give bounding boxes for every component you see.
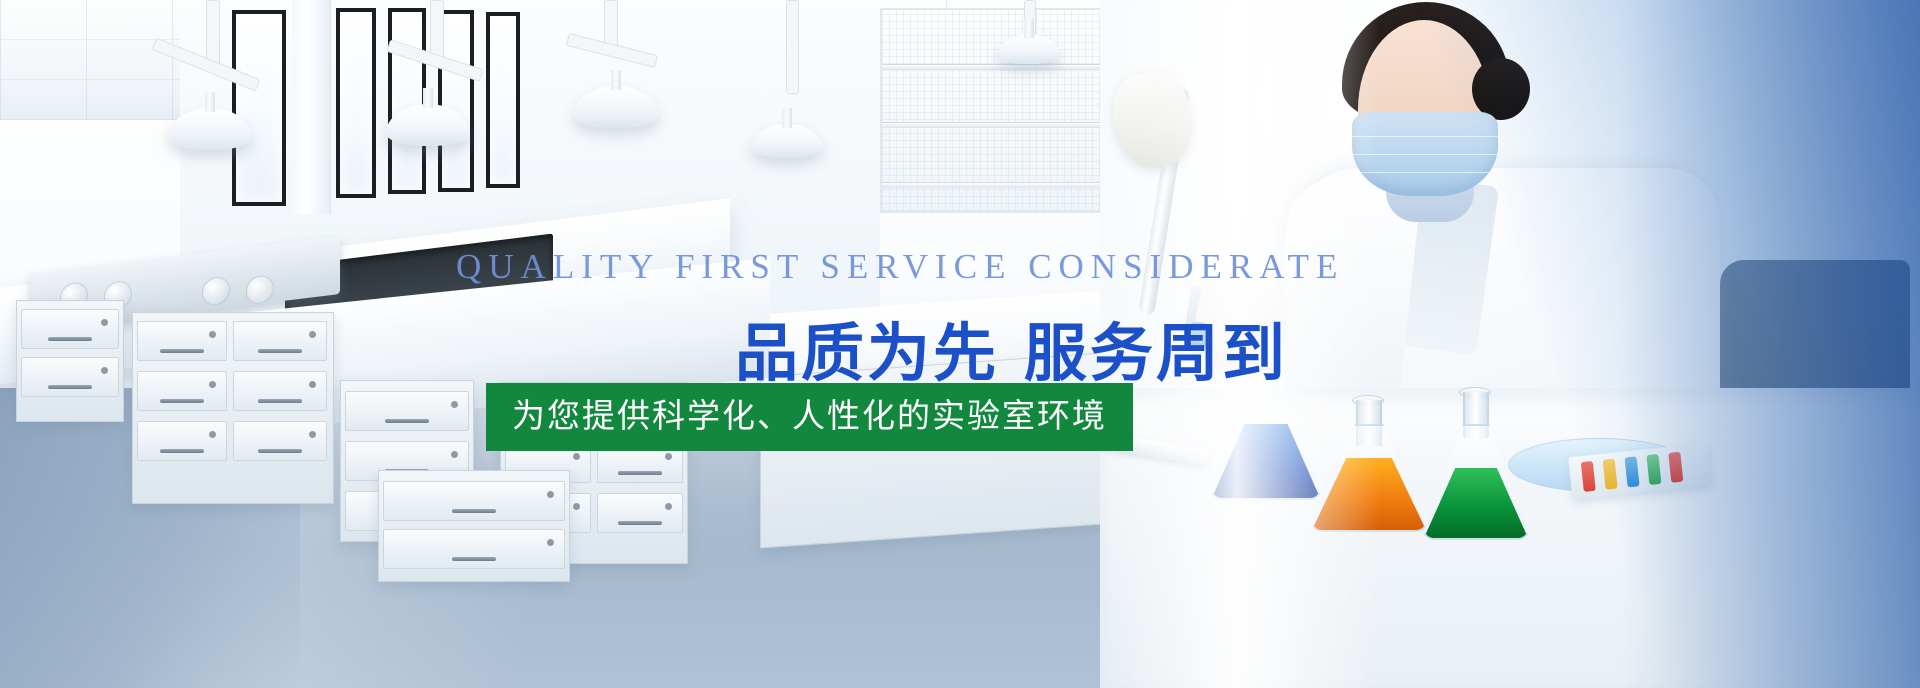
banner-text-overlay: QUALITY FIRST SERVICE CONSIDERATE 品质为先 服… (0, 0, 1920, 688)
banner-subtitle-bar: 为您提供科学化、人性化的实验室环境 (486, 383, 1133, 451)
banner-subtitle-text: 为您提供科学化、人性化的实验室环境 (512, 396, 1107, 435)
banner-eyebrow-text: QUALITY FIRST SERVICE CONSIDERATE (456, 247, 1344, 287)
banner-headline: 品质为先 服务周到 (735, 303, 1288, 394)
hero-banner: QUALITY FIRST SERVICE CONSIDERATE 品质为先 服… (0, 0, 1920, 688)
